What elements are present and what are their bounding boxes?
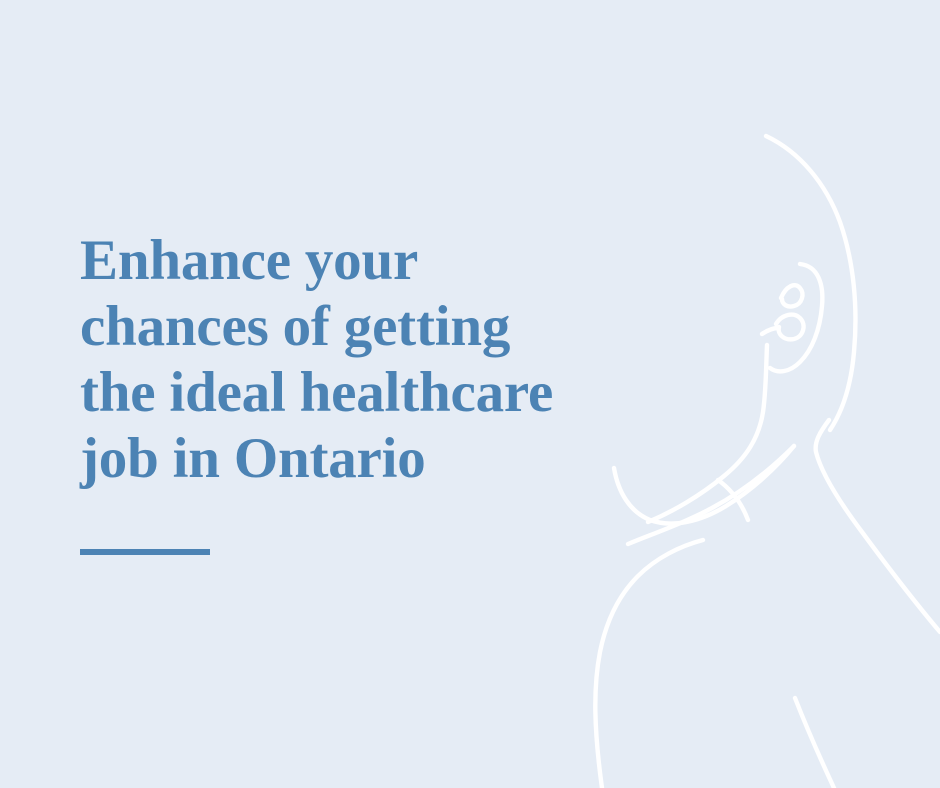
headline-line-2: chances of getting bbox=[80, 294, 600, 360]
clavicle-path bbox=[614, 446, 794, 524]
promo-banner: Enhance your chances of getting the idea… bbox=[0, 0, 940, 788]
headline-line-4: job in Ontario bbox=[80, 426, 600, 492]
headline-underline-rule bbox=[80, 549, 210, 555]
head-outline-path bbox=[766, 136, 855, 430]
headline-line-1: Enhance your bbox=[80, 228, 600, 294]
neck-back-path bbox=[816, 420, 940, 632]
ear-inner-helix-path bbox=[781, 285, 802, 306]
page-title: Enhance your chances of getting the idea… bbox=[80, 228, 600, 492]
inner-arm-path bbox=[795, 698, 834, 788]
shoulder-slope-path bbox=[595, 540, 703, 788]
ear-outer-path bbox=[770, 264, 822, 371]
headline-line-3: the ideal healthcare bbox=[80, 360, 600, 426]
shoulder-notch-path bbox=[718, 480, 748, 520]
headline-block: Enhance your chances of getting the idea… bbox=[80, 228, 600, 492]
chest-contour-path bbox=[628, 446, 794, 544]
ear-tragus-path bbox=[762, 328, 778, 334]
ear-inner-lobe-path bbox=[776, 315, 804, 340]
neck-front-path bbox=[648, 345, 767, 522]
